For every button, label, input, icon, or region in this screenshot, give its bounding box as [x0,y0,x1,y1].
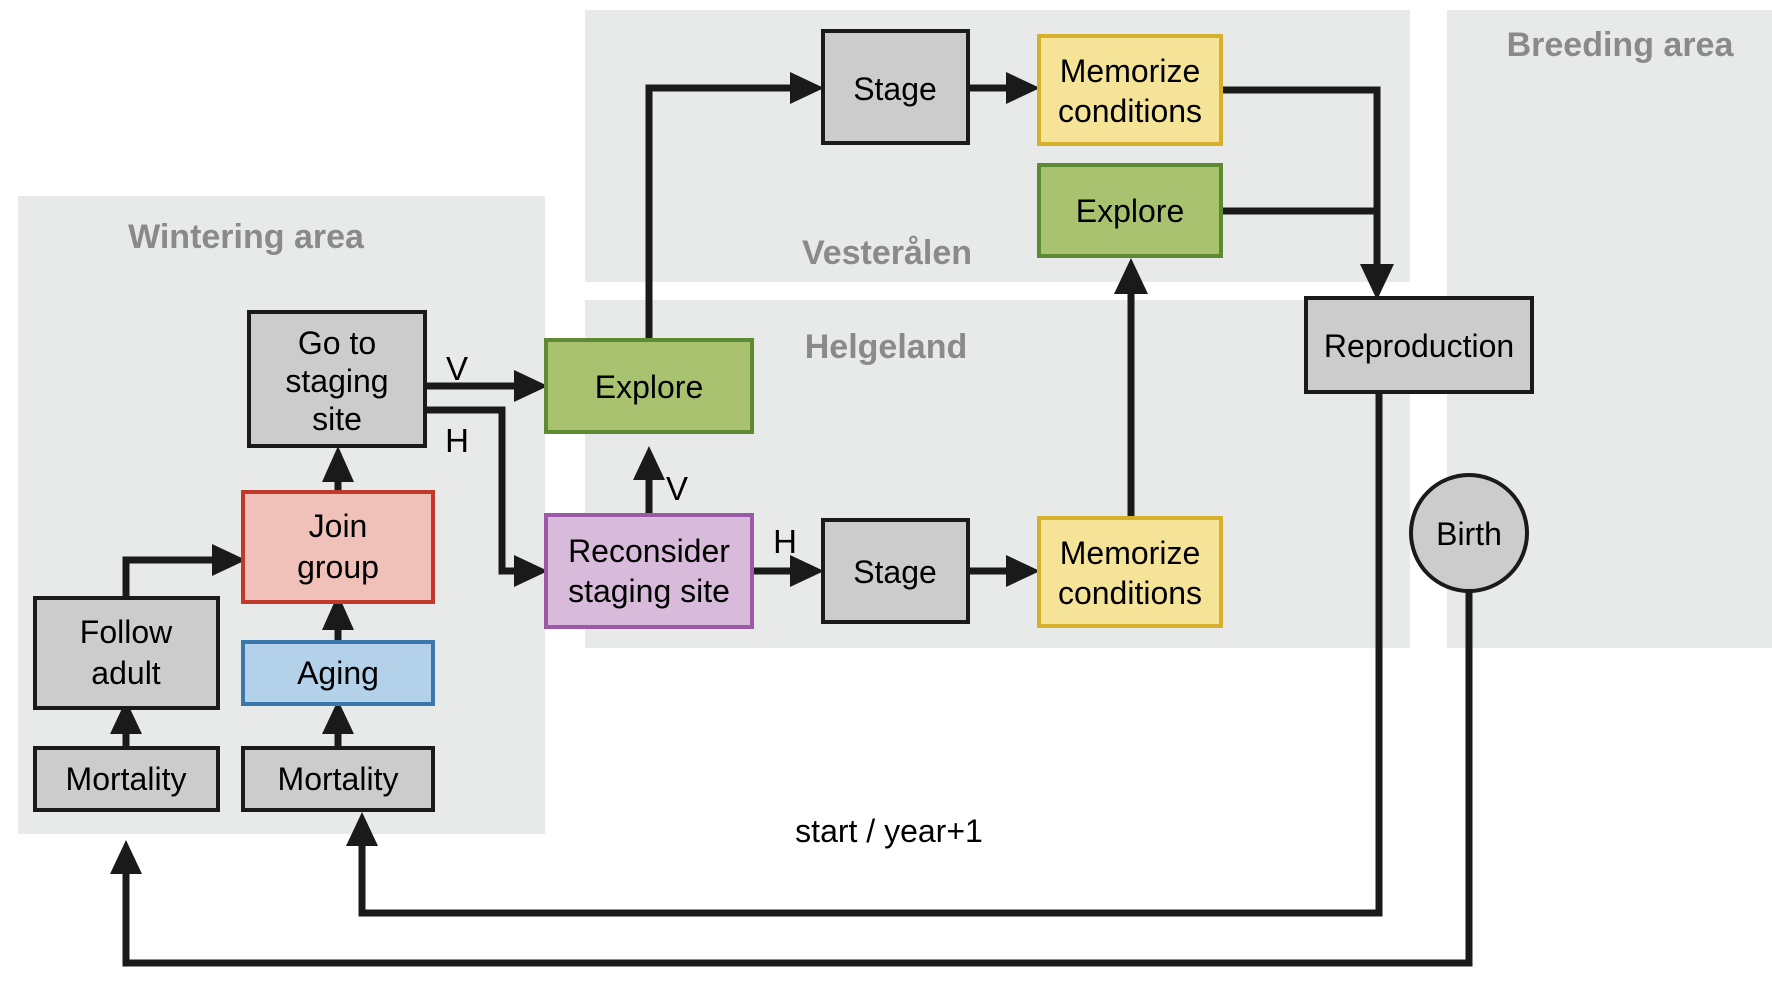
node-reproduction[interactable]: Reproduction [1306,298,1532,392]
node-mortality-right[interactable]: Mortality [243,748,433,810]
node-label-memorize-vesteralen-line1: Memorize [1060,53,1200,89]
edge-label-v-reconsider: V [666,470,688,507]
node-go-to-staging-site[interactable]: Go to staging site [249,312,425,446]
node-mortality-left[interactable]: Mortality [35,748,218,810]
node-label-reconsider-line2: staging site [568,573,730,609]
node-label-follow-adult-line1: Follow [80,614,173,650]
edge-label-h-reconsider: H [773,523,797,560]
node-explore-vesteralen[interactable]: Explore [1039,165,1221,256]
flowchart-diagram: Wintering area Vesterålen Helgeland Bree… [0,0,1772,1002]
flowchart-canvas: Wintering area Vesterålen Helgeland Bree… [0,0,1772,1002]
node-label-reproduction: Reproduction [1324,328,1514,364]
node-label-stage-helgeland: Stage [853,554,937,590]
node-label-memorize-vesteralen-line2: conditions [1058,93,1202,129]
node-stage-helgeland[interactable]: Stage [823,520,968,622]
node-label-mortality-left: Mortality [66,761,187,797]
panel-label-vesteralen: Vesterålen [802,234,972,272]
node-memorize-conditions-helgeland[interactable]: Memorize conditions [1039,518,1221,626]
node-label-mortality-right: Mortality [278,761,399,797]
label-start-year: start / year+1 [795,813,983,849]
edge-label-h-staging: H [445,422,469,459]
node-stage-vesteralen[interactable]: Stage [823,31,968,143]
node-label-stage-vesteralen: Stage [853,71,937,107]
node-label-explore-vesteralen: Explore [1076,193,1185,229]
node-label-go-to-staging-site-line2: staging [285,363,388,399]
node-join-group[interactable]: Join group [243,492,433,602]
node-label-join-group-line2: group [297,549,379,585]
arrowhead-mortality-left-return [110,840,142,874]
panel-label-breeding: Breeding area [1507,26,1735,64]
node-birth[interactable]: Birth [1411,475,1527,591]
node-label-go-to-staging-site-line1: Go to [298,325,376,361]
node-label-go-to-staging-site-line3: site [312,401,362,437]
panel-label-wintering: Wintering area [128,218,365,256]
node-reconsider-staging-site[interactable]: Reconsider staging site [546,515,752,627]
node-label-memorize-helgeland-line1: Memorize [1060,535,1200,571]
node-label-birth: Birth [1436,516,1502,552]
node-aging[interactable]: Aging [243,642,433,704]
node-explore-helgeland[interactable]: Explore [546,340,752,432]
node-label-join-group-line1: Join [309,508,368,544]
panel-label-helgeland: Helgeland [805,328,967,366]
node-label-reconsider-line1: Reconsider [568,533,730,569]
node-label-follow-adult-line2: adult [91,655,161,691]
panel-vesteralen [585,10,1410,282]
node-memorize-conditions-vesteralen[interactable]: Memorize conditions [1039,36,1221,144]
node-label-explore-helgeland: Explore [595,369,704,405]
node-follow-adult[interactable]: Follow adult [35,598,218,708]
edge-label-v-staging: V [446,350,468,387]
node-label-memorize-helgeland-line2: conditions [1058,575,1202,611]
node-label-aging: Aging [297,655,379,691]
